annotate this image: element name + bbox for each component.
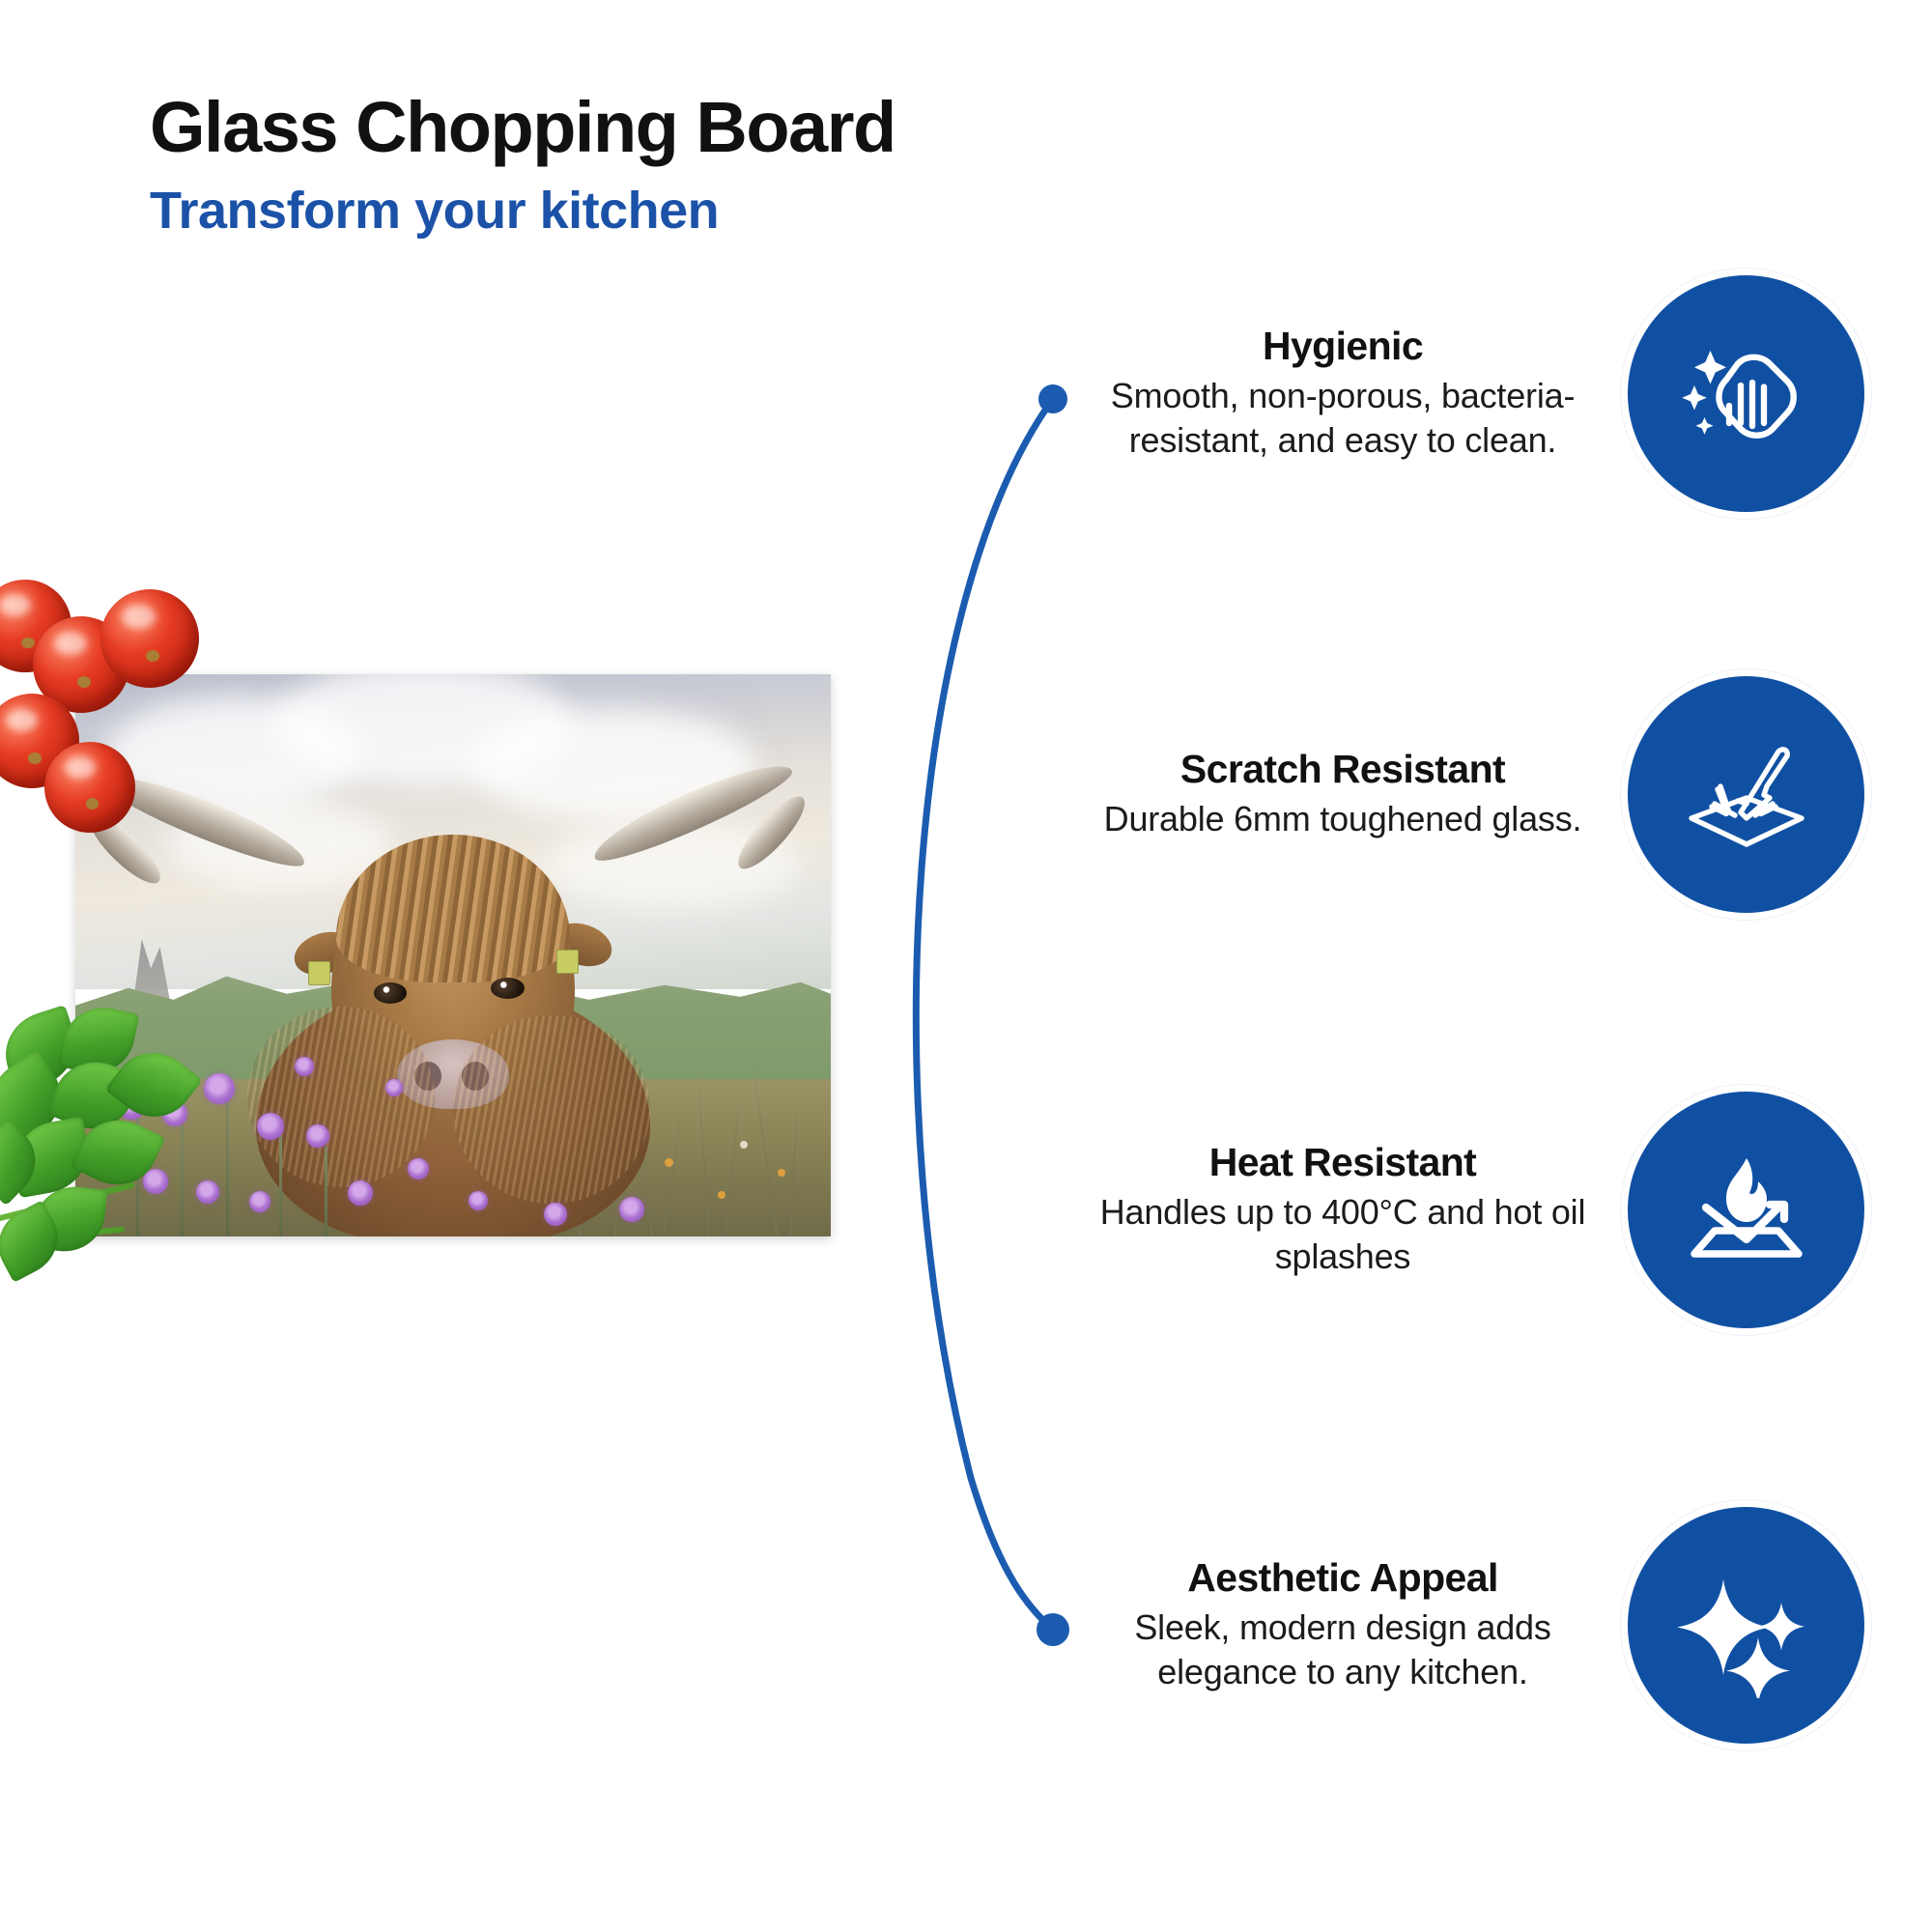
- feature-title: Aesthetic Appeal: [1096, 1556, 1589, 1599]
- sparkles-icon: [1628, 1507, 1864, 1744]
- thistle-flower: [295, 1057, 314, 1076]
- feature-hygienic: Hygienic Smooth, non-porous, bacteria-re…: [1043, 275, 1864, 512]
- thistle-flower: [348, 1180, 373, 1206]
- feature-aesthetic-appeal: Aesthetic Appeal Sleek, modern design ad…: [1043, 1507, 1864, 1744]
- feature-scratch-resistant: Scratch Resistant Durable 6mm toughened …: [1043, 676, 1864, 913]
- thistle-flower: [306, 1124, 329, 1148]
- parsley-bunch: [0, 1005, 232, 1285]
- feature-description: Durable 6mm toughened glass.: [1096, 797, 1589, 841]
- cow-ear-tag-left: [308, 961, 330, 985]
- feature-title: Heat Resistant: [1096, 1141, 1589, 1183]
- thistle-flower: [408, 1158, 429, 1179]
- cow-fur: [247, 1007, 435, 1187]
- product-image-composition: [0, 599, 869, 1275]
- thistle-flower: [544, 1203, 567, 1226]
- thistle-stem: [325, 1147, 327, 1236]
- feature-title: Hygienic: [1096, 325, 1589, 367]
- flame-deflect-arrow-icon: [1628, 1092, 1864, 1328]
- feature-description: Smooth, non-porous, bacteria-resistant, …: [1096, 374, 1589, 463]
- cow-fringe: [336, 835, 570, 982]
- cow-eye-left: [374, 982, 408, 1004]
- tomato-highlight: [122, 605, 156, 628]
- tomato-highlight: [54, 632, 87, 655]
- feature-title: Scratch Resistant: [1096, 748, 1589, 790]
- highland-cow: [219, 826, 688, 1236]
- tomato: [100, 589, 199, 688]
- tomato-highlight: [6, 709, 38, 732]
- feature-heat-resistant: Heat Resistant Handles up to 400°C and h…: [1043, 1092, 1864, 1328]
- thistle-flower: [469, 1191, 488, 1210]
- feature-text: Heat Resistant Handles up to 400°C and h…: [1096, 1141, 1589, 1278]
- thistle-flower: [257, 1113, 284, 1140]
- feature-description: Handles up to 400°C and hot oil splashes: [1096, 1190, 1589, 1279]
- cow-fur: [453, 1015, 650, 1204]
- thistle-stem: [279, 1135, 282, 1236]
- page-title: Glass Chopping Board: [150, 92, 1212, 163]
- knife-impact-surface-icon: [1628, 676, 1864, 913]
- thistle-flower: [385, 1079, 403, 1096]
- tomato: [44, 742, 135, 833]
- page-tagline: Transform your kitchen: [150, 185, 1212, 237]
- connector-path: [916, 399, 1053, 1630]
- feature-text: Hygienic Smooth, non-porous, bacteria-re…: [1096, 325, 1589, 462]
- feature-text: Aesthetic Appeal Sleek, modern design ad…: [1096, 1556, 1589, 1693]
- hand-wipe-sparkle-icon: [1628, 275, 1864, 512]
- feature-text: Scratch Resistant Durable 6mm toughened …: [1096, 748, 1589, 840]
- header: Glass Chopping Board Transform your kitc…: [150, 92, 1212, 237]
- tomato-highlight: [0, 594, 31, 616]
- tomato-highlight: [65, 756, 96, 779]
- cow-ear-tag-right: [556, 950, 579, 974]
- feature-description: Sleek, modern design adds elegance to an…: [1096, 1605, 1589, 1694]
